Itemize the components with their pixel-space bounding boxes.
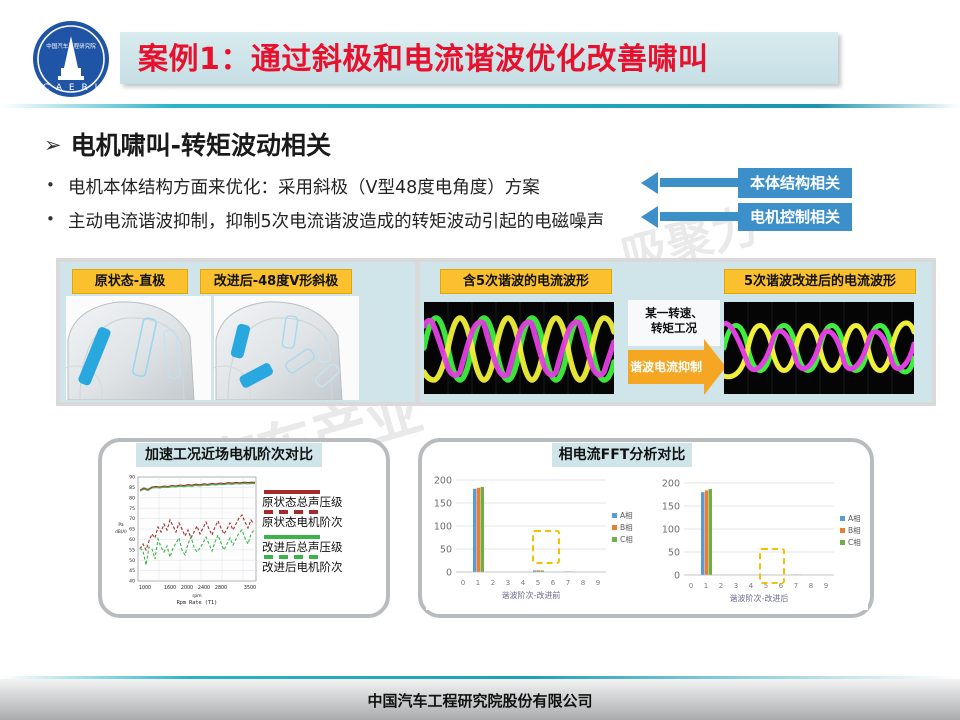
svg-text:谐波阶次-改进后: 谐波阶次-改进后	[730, 593, 789, 603]
svg-text:55: 55	[129, 547, 135, 553]
svg-text:40: 40	[129, 579, 135, 585]
svg-text:2: 2	[491, 579, 495, 587]
svg-text:60: 60	[129, 537, 135, 543]
highlight-box-after	[759, 548, 785, 584]
svg-text:150: 150	[662, 502, 680, 513]
order-comparison-chart: 908580 757065 605550 4540 100016002000 2…	[112, 472, 262, 608]
caeri-logo: C A E R I 中国汽车工程研究院	[30, 18, 112, 100]
arrow-left-icon-1	[641, 172, 658, 194]
motor-v-skew-pole-image	[214, 296, 359, 400]
svg-text:0: 0	[446, 568, 452, 579]
svg-text:6: 6	[551, 579, 556, 587]
legend-swatch-solid-red	[264, 490, 320, 494]
svg-text:75: 75	[129, 506, 135, 512]
slide-root: 吸聚力 汽车产业 C A E R I 中国汽车工程研究院 案例1：通过斜极和电流…	[0, 0, 960, 720]
label-wave-after-5th: 5次谐波改进后的电流波形	[724, 269, 916, 294]
svg-text:9: 9	[824, 582, 828, 590]
chevron-right-icon: ➢	[44, 133, 62, 157]
callout-control: 电机控制相关	[738, 203, 852, 231]
callout-structure: 本体结构相关	[738, 168, 852, 198]
legend-label: 改进后总声压级	[262, 540, 384, 554]
condition-line-2: 转矩工况	[628, 321, 720, 336]
svg-text:7: 7	[794, 582, 798, 590]
label-original-pole: 原状态-直极	[72, 269, 188, 294]
legend-swatch-dashed-green	[264, 555, 320, 559]
svg-text:Rpm Rate (T1): Rpm Rate (T1)	[177, 600, 218, 606]
svg-text:0: 0	[674, 571, 680, 582]
svg-text:5: 5	[536, 579, 540, 587]
svg-text:Pa: Pa	[118, 522, 123, 528]
svg-text:3500: 3500	[244, 585, 256, 591]
svg-text:45: 45	[129, 568, 135, 574]
svg-text:1600: 1600	[164, 585, 176, 591]
svg-text:9: 9	[596, 579, 600, 587]
svg-text:200: 200	[662, 479, 680, 490]
svg-text:A相: A相	[848, 513, 861, 523]
svg-text:2400: 2400	[198, 585, 210, 591]
bullet-marker: •	[46, 210, 68, 228]
svg-text:谐波阶次-改进前: 谐波阶次-改进前	[502, 590, 561, 600]
arrow-left-icon-2	[641, 206, 658, 228]
svg-text:50: 50	[129, 558, 135, 564]
highlight-box-before	[532, 530, 560, 564]
svg-text:C相: C相	[620, 534, 633, 544]
svg-text:1: 1	[704, 582, 708, 590]
footer-text: 中国汽车工程研究院股份有限公司	[0, 690, 960, 711]
svg-text:85: 85	[129, 485, 135, 491]
section-heading: ➢电机啸叫-转矩波动相关	[44, 126, 644, 160]
legend-swatch-solid-green	[264, 535, 320, 539]
svg-text:2800: 2800	[215, 585, 227, 591]
legend-item-improved-spl: 改进后总声压级	[262, 535, 384, 554]
svg-text:3: 3	[506, 579, 510, 587]
legend-swatch-dashed-red	[264, 510, 320, 514]
svg-text:50: 50	[668, 548, 680, 559]
harmonic-suppression-arrow: 谐波电流抑制	[628, 350, 704, 384]
legend-label: 改进后电机阶次	[262, 560, 384, 574]
svg-text:150: 150	[434, 499, 452, 510]
svg-text:1: 1	[476, 579, 480, 587]
svg-text:A相: A相	[620, 510, 633, 520]
bullet-item-1: •电机本体结构方面来优化：采用斜极（V型48度电角度）方案	[46, 174, 540, 199]
label-improved-pole: 改进后-48度V形斜极	[200, 269, 352, 294]
page-title: 案例1：通过斜极和电流谐波优化改善啸叫	[138, 38, 838, 82]
svg-text:200: 200	[434, 476, 452, 487]
svg-text:B相: B相	[620, 522, 633, 532]
svg-text:C相: C相	[848, 537, 861, 547]
svg-text:1000: 1000	[139, 585, 151, 591]
legend-item-original-spl: 原状态总声压级	[262, 490, 384, 509]
label-wave-with-5th: 含5次谐波的电流波形	[440, 269, 612, 294]
svg-text:4: 4	[749, 582, 754, 590]
legend-item-original-order: 原状态电机阶次	[262, 510, 384, 529]
motor-straight-pole-image	[66, 296, 211, 400]
svg-text:100: 100	[662, 525, 680, 536]
bullet-text: 电机本体结构方面来优化：采用斜极（V型48度电角度）方案	[68, 178, 540, 198]
svg-text:中国汽车工程研究院: 中国汽车工程研究院	[46, 42, 96, 50]
scope-waveform-after-improvement	[724, 302, 914, 394]
svg-text:80: 80	[129, 495, 135, 501]
callout-arrow-line-2	[660, 212, 740, 221]
order-chart-legend: 原状态总声压级 原状态电机阶次 改进后总声压级 改进后电机阶次	[262, 490, 384, 575]
fft-chart-after: 200150 10050 0 012 345 678 9 谐波阶次-改进后 A相	[650, 468, 868, 610]
svg-text:2000: 2000	[181, 585, 193, 591]
svg-text:3: 3	[734, 582, 738, 590]
svg-text:0: 0	[689, 582, 693, 590]
bullet-item-2: •主动电流谐波抑制，抑制5次电流谐波造成的转矩波动引起的电磁噪声	[46, 208, 604, 233]
svg-text:B相: B相	[848, 525, 861, 535]
arrow-right-icon-orange	[704, 339, 726, 395]
bullet-marker: •	[46, 176, 68, 194]
header-divider	[0, 104, 960, 108]
bullet-text: 主动电流谐波抑制，抑制5次电流谐波造成的转矩波动引起的电磁噪声	[68, 212, 604, 232]
svg-text:100: 100	[434, 522, 452, 533]
svg-text:dB(A): dB(A)	[115, 529, 127, 534]
legend-label: 原状态电机阶次	[262, 515, 384, 529]
svg-text:C A E R I: C A E R I	[43, 83, 99, 93]
fft-analysis-card-title: 相电流FFT分析对比	[552, 443, 692, 467]
svg-text:65: 65	[129, 527, 135, 533]
legend-item-improved-order: 改进后电机阶次	[262, 555, 384, 574]
svg-text:50: 50	[440, 545, 452, 556]
svg-text:0: 0	[461, 579, 465, 587]
scope-waveform-with-5th-harmonic	[424, 302, 614, 394]
svg-text:90: 90	[129, 475, 135, 481]
legend-label: 原状态总声压级	[262, 495, 384, 509]
svg-text:8: 8	[581, 579, 585, 587]
svg-text:70: 70	[129, 516, 135, 522]
section-heading-label: 电机啸叫-转矩波动相关	[71, 131, 331, 160]
svg-text:8: 8	[809, 582, 813, 590]
callout-arrow-line-1	[660, 178, 740, 187]
condition-line-1: 某一转速、	[628, 306, 720, 321]
svg-text:2: 2	[719, 582, 723, 590]
svg-text:rpm: rpm	[192, 593, 202, 599]
svg-text:7: 7	[566, 579, 570, 587]
order-analysis-card-title: 加速工况近场电机阶次对比	[136, 443, 322, 467]
svg-text:4: 4	[521, 579, 526, 587]
